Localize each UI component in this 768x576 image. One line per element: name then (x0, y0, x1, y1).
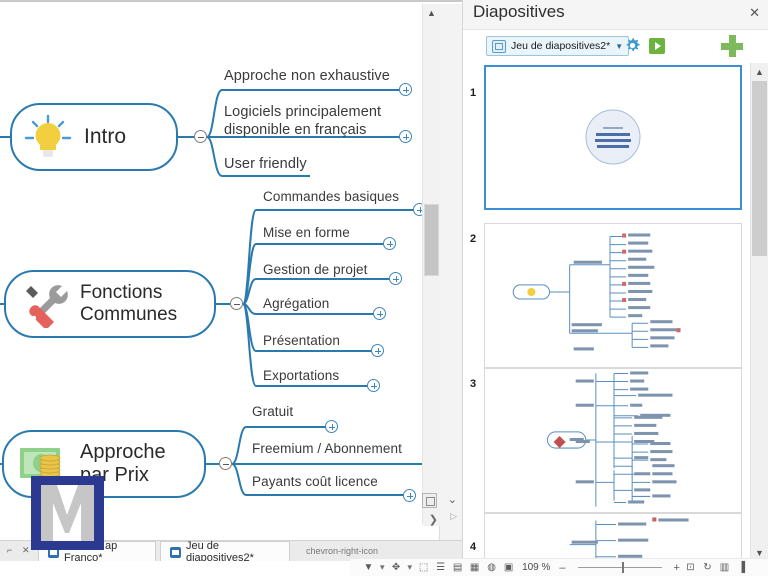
panel-scroll-thumb[interactable] (752, 81, 767, 256)
filter-icon[interactable]: ▼ (362, 561, 375, 574)
overview-box-icon[interactable] (422, 493, 437, 508)
slide-thumbnail-4[interactable] (484, 513, 742, 561)
focus-icon[interactable]: ✥ (390, 561, 403, 574)
mindmap-canvas-area[interactable]: Intro Approche non exhaustive Logiciels … (0, 0, 462, 540)
branch-label-exportations: Exportations (263, 368, 339, 384)
mindmap-canvas[interactable]: Intro Approche non exhaustive Logiciels … (0, 4, 440, 540)
slide-4-preview (485, 514, 741, 561)
expand-gestion-de-projet[interactable] (389, 272, 402, 285)
zoom-slider-knob[interactable] (622, 562, 624, 573)
slide-thumbnail-3[interactable] (484, 368, 742, 513)
split-view-icon[interactable]: ▥ (718, 561, 731, 574)
zoom-slider-track (578, 567, 662, 568)
lightbulb-icon (22, 112, 74, 162)
canvas-expand-triangle-icon[interactable]: ▷ (450, 511, 457, 522)
chevron-down-icon[interactable]: ▼ (615, 42, 623, 51)
branch-label-commandes-basiques: Commandes basiques (263, 189, 399, 205)
slide-number: 2 (470, 233, 476, 245)
slideshow-file-icon (170, 547, 181, 558)
node-label-fonctions-communes: Fonctions Communes (80, 282, 177, 326)
refresh-icon[interactable]: ↻ (701, 561, 714, 574)
mindmap-node-intro[interactable]: Intro (10, 103, 178, 171)
expand-exportations[interactable] (367, 379, 380, 392)
expand-presentation[interactable] (371, 344, 384, 357)
zoom-out-button[interactable]: – (559, 562, 565, 574)
notes-view-icon[interactable]: ▣ (502, 561, 515, 574)
slides-view-icon[interactable]: ◍ (485, 561, 498, 574)
outline-view-icon[interactable]: ☰ (434, 561, 447, 574)
zoom-slider[interactable] (570, 561, 670, 574)
zoom-in-button[interactable]: + (674, 562, 680, 574)
branch-label-agregation: Agrégation (263, 296, 329, 312)
calendar-view-icon[interactable]: ▤ (451, 561, 464, 574)
slide-thumbnail-1[interactable] (484, 65, 742, 210)
slide-number: 1 (470, 87, 476, 99)
branch-label-logiciels-francais: Logiciels principalement disponible en f… (224, 104, 381, 139)
application-window: Intro Approche non exhaustive Logiciels … (0, 0, 768, 576)
canvas-vertical-scrollbar[interactable]: ▲ ▼ (422, 4, 440, 524)
branch-label-user-friendly: User friendly (224, 156, 307, 174)
add-slide-plus-icon[interactable] (721, 35, 743, 57)
expand-logiciels-francais[interactable] (399, 130, 412, 143)
panel-header: Diapositives ✕ (463, 0, 768, 30)
slide-thumbnail-list[interactable]: 1 (463, 63, 768, 561)
mindmanager-logo-icon (41, 485, 94, 541)
branch-label-gestion-de-projet: Gestion de projet (263, 262, 368, 278)
expand-payants-cout-licence[interactable] (403, 489, 416, 502)
sidebar-icon[interactable]: ▐ (735, 561, 748, 574)
fit-map-icon[interactable]: ⬚ (417, 561, 430, 574)
slide-1-preview (486, 67, 740, 208)
tab-jeu-de-diapositives2[interactable]: Jeu de diapositives2* (160, 541, 290, 562)
branch-label-mise-en-forme: Mise en forme (263, 225, 350, 241)
view-statusbar[interactable]: ▼ ▾ ✥ ▾ ⬚ ☰ ▤ ▦ ◍ ▣ 109 % – + ⊡ ↻ ▥ ▐ (350, 558, 768, 576)
slide-number: 3 (470, 378, 476, 390)
collapse-toggle-intro[interactable] (194, 130, 207, 143)
tab-overflow-chevron-right-icon[interactable]: chevron-right-icon (306, 546, 378, 556)
slide-2-preview (485, 224, 741, 367)
panel-vertical-scrollbar[interactable]: ▲ ▼ (750, 63, 768, 561)
canvas-side-strip (439, 4, 462, 540)
slide-deck-selector[interactable]: Jeu de diapositives2* ▼ (486, 36, 629, 56)
canvas-scroll-thumb[interactable] (424, 204, 439, 276)
canvas-chevron-right-icon[interactable]: ❯ (429, 515, 438, 526)
branch-label-approche-non-exhaustive: Approche non exhaustive (224, 68, 390, 86)
node-label-intro: Intro (84, 125, 126, 149)
slide-3-preview (485, 369, 741, 512)
panel-toolbar: Jeu de diapositives2* ▼ (463, 30, 768, 64)
slide-thumbnail-2[interactable] (484, 223, 742, 368)
play-icon[interactable] (649, 38, 665, 54)
chevron-up-icon[interactable]: ▲ (751, 63, 768, 80)
filter-dropdown-caret[interactable]: ▾ (380, 562, 385, 573)
branch-label-payants-cout-licence: Payants coût licence (252, 474, 378, 490)
tools-icon (18, 280, 74, 328)
gantt-view-icon[interactable]: ▦ (468, 561, 481, 574)
expand-mise-en-forme[interactable] (383, 237, 396, 250)
fit-page-icon[interactable]: ⊡ (684, 561, 697, 574)
scroll-up-icon[interactable]: ▲ (423, 4, 440, 21)
slide-number: 4 (470, 541, 476, 553)
collapse-toggle-fonctions-communes[interactable] (230, 297, 243, 310)
gear-icon[interactable] (624, 37, 641, 54)
branch-label-presentation: Présentation (263, 333, 340, 349)
expand-ribbon-icon[interactable]: ⌐ (7, 545, 12, 555)
mindmap-node-fonctions-communes[interactable]: Fonctions Communes (4, 270, 216, 338)
panel-title: Diapositives (473, 2, 565, 22)
slide-deck-name: Jeu de diapositives2* (511, 40, 610, 52)
app-logo-overlay (31, 476, 104, 550)
slide-deck-icon (492, 40, 506, 53)
expand-gratuit[interactable] (325, 420, 338, 433)
close-tab-icon[interactable]: ✕ (22, 545, 30, 556)
collapse-toggle-approche-par-prix[interactable] (219, 457, 232, 470)
close-icon[interactable]: ✕ (749, 6, 760, 19)
focus-dropdown-caret[interactable]: ▾ (408, 562, 413, 573)
branch-label-freemium-abonnement: Freemium / Abonnement (252, 441, 402, 457)
expand-approche-non-exhaustive[interactable] (399, 83, 412, 96)
canvas-chevron-down-icon[interactable]: ⌄ (448, 495, 457, 506)
expand-agregation[interactable] (373, 307, 386, 320)
diapositives-panel: Diapositives ✕ Jeu de diapositives2* ▼ 1 (462, 0, 768, 561)
zoom-level-label: 109 % (522, 562, 550, 573)
branch-label-gratuit: Gratuit (252, 404, 293, 420)
